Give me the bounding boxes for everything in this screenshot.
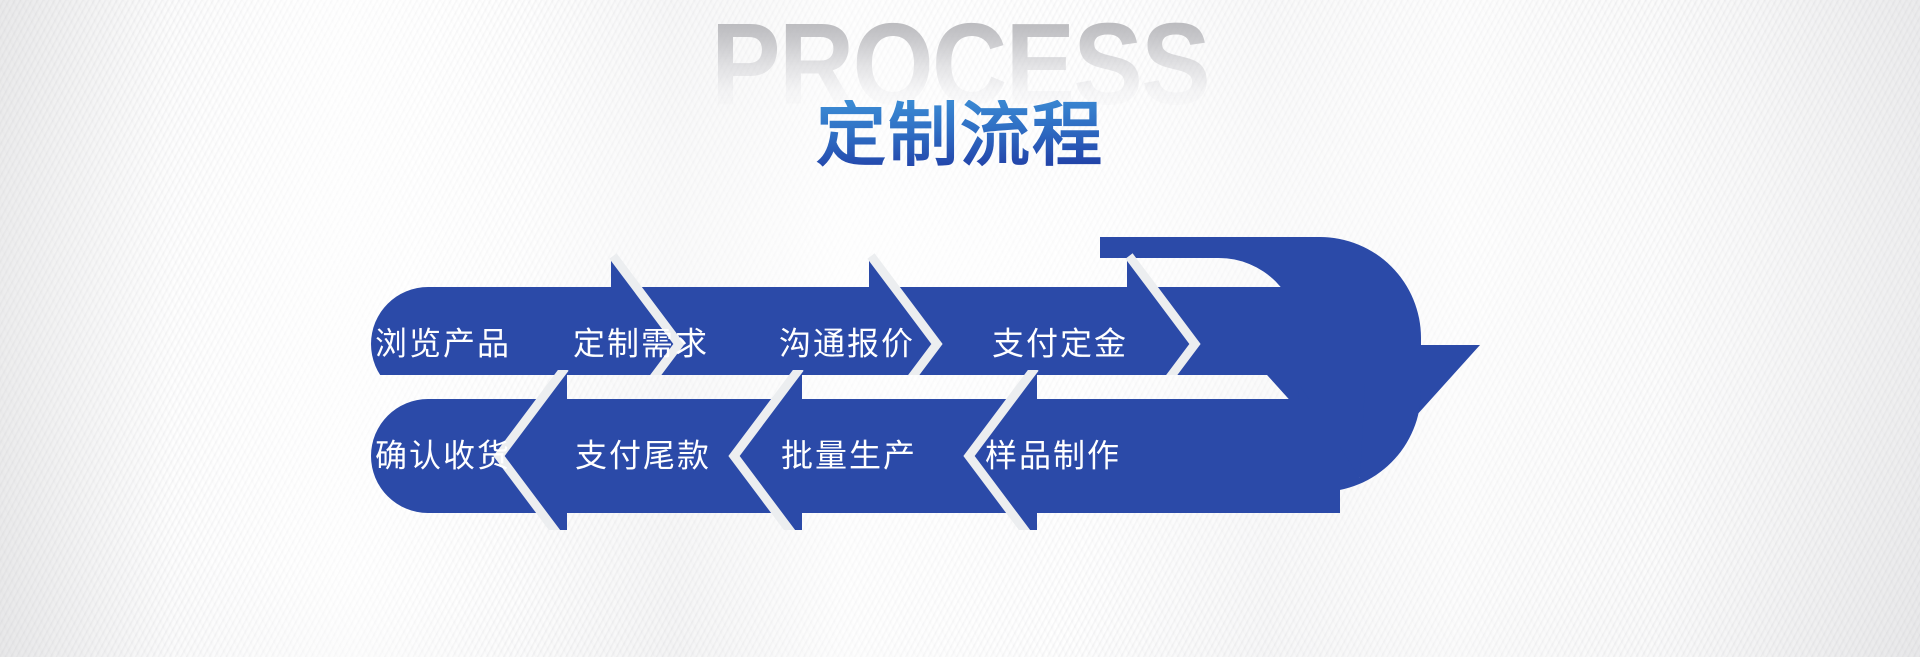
- step-label-8: 确认收货: [375, 437, 511, 473]
- step-label-1: 浏览产品: [375, 325, 511, 361]
- bottom-arrowhead-1: [502, 370, 567, 542]
- step-label-2: 定制需求: [573, 325, 709, 361]
- process-banner: PROCESS 定制流程: [0, 0, 1920, 657]
- step-label-7: 支付尾款: [575, 437, 711, 473]
- step-label-3: 沟通报价: [779, 325, 915, 361]
- process-flow-diagram: 浏览产品 定制需求 沟通报价 支付定金 确认收货 支付尾款 批量生产 样品制作: [0, 0, 1920, 657]
- step-label-4: 支付定金: [992, 325, 1128, 361]
- step-label-5: 样品制作: [985, 437, 1121, 473]
- step-label-6: 批量生产: [781, 437, 917, 473]
